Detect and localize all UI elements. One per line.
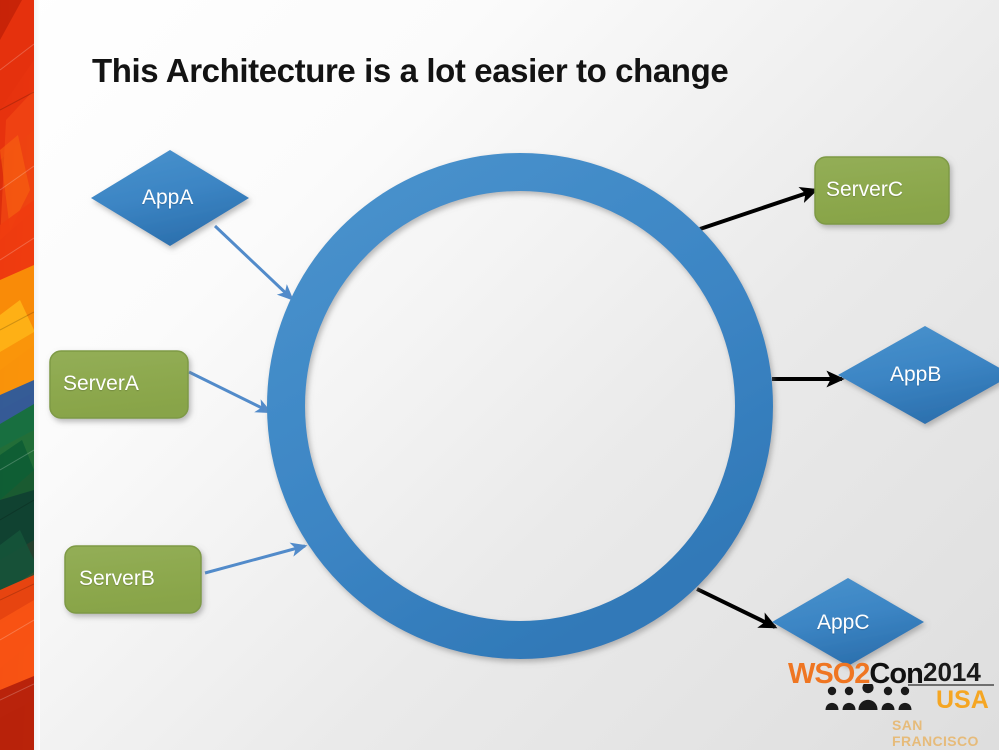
connector-serverB-to-hub (205, 546, 305, 573)
logo-year-text: 2014 (923, 657, 981, 688)
wso2con-logo: WSO2Con 2014 USA SAN FRANCISCO (788, 658, 994, 744)
node-label-appC: AppC (817, 611, 870, 635)
node-label-serverA: ServerA (63, 372, 139, 396)
esb-ring-hub[interactable] (286, 172, 754, 640)
architecture-diagram (0, 0, 999, 750)
node-label-appA: AppA (142, 186, 193, 210)
connector-hub-to-appC (697, 589, 775, 627)
node-label-serverC: ServerC (826, 178, 903, 202)
people-group-icon (824, 684, 912, 715)
logo-city-text: SAN FRANCISCO (892, 717, 994, 749)
connector-serverA-to-hub (189, 372, 270, 412)
node-label-appB: AppB (890, 363, 941, 387)
connector-hub-to-serverC (700, 190, 816, 229)
logo-country-text: USA (936, 686, 989, 715)
connector-appA-to-hub (215, 226, 292, 299)
node-label-serverB: ServerB (79, 567, 155, 591)
slide-canvas: This Architecture is a lot easier to cha… (0, 0, 999, 750)
